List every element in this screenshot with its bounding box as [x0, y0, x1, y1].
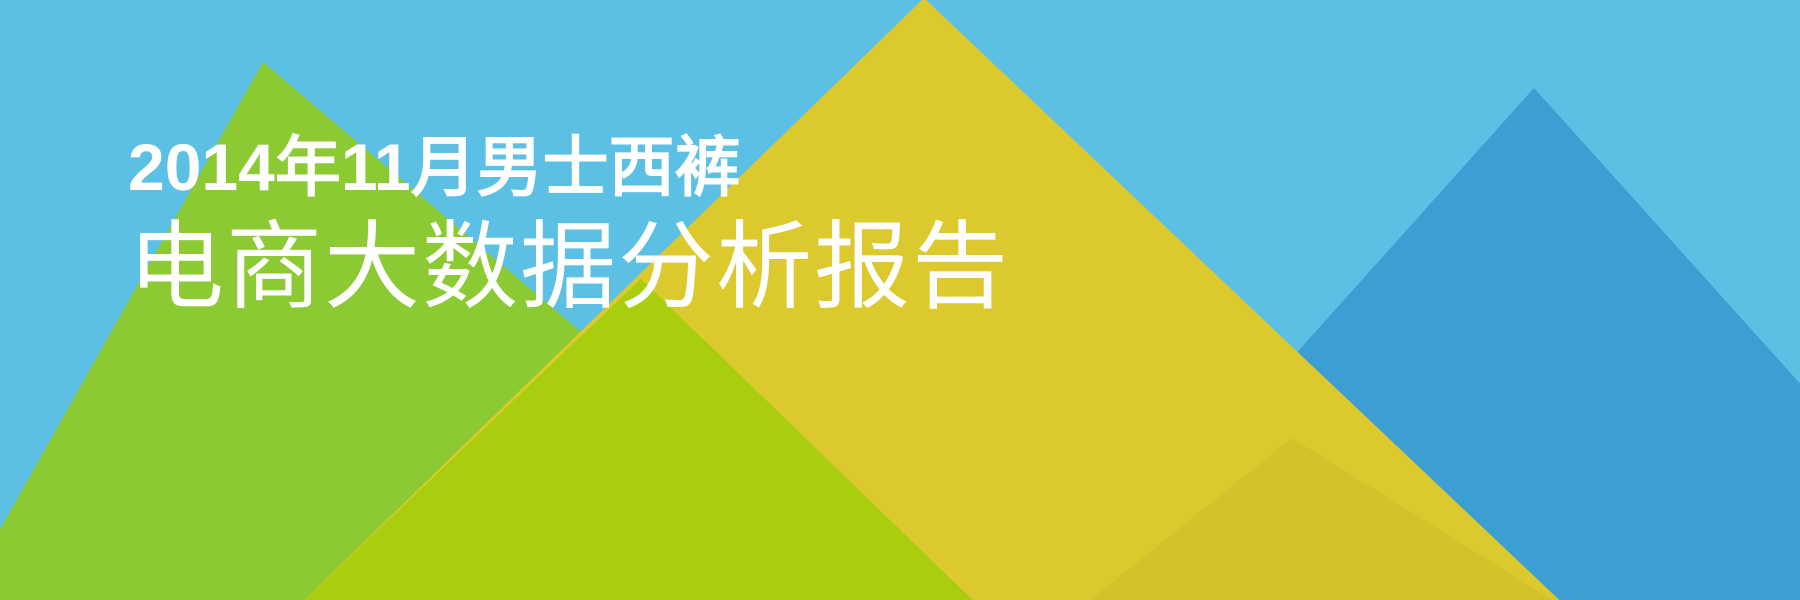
report-cover-banner: 2014年11月男士西裤 电商大数据分析报告 — [0, 0, 1800, 600]
decorative-mountain-graphics — [0, 0, 1800, 600]
